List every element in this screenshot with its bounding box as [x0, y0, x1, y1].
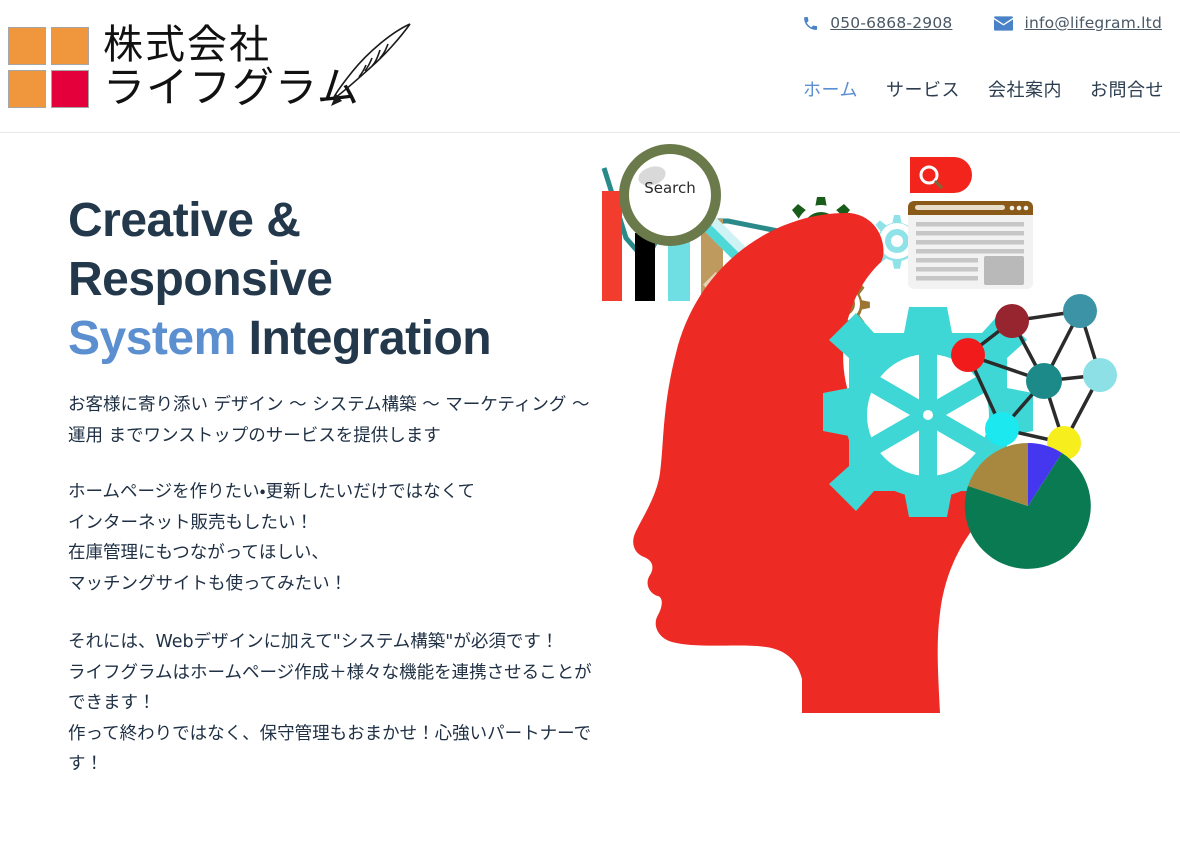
hero-p3-line-1: それには、Webデザインに加えて"システム構築"が必須です！	[68, 632, 558, 652]
hero-p2-line-4: マッチングサイトも使ってみたい！	[68, 574, 347, 594]
node-red	[951, 338, 985, 372]
envelope-icon	[994, 16, 1013, 31]
node-cyan	[985, 412, 1019, 446]
email-contact[interactable]: info@lifegram.ltd	[994, 14, 1162, 32]
node-light-cyan	[1083, 358, 1117, 392]
hero-title-highlight: System	[68, 312, 236, 365]
nav-item-company[interactable]: 会社案内	[988, 76, 1062, 102]
hero-title-line2: Responsive	[68, 253, 332, 306]
search-tag-icon	[910, 157, 972, 193]
email-address: info@lifegram.ltd	[1024, 14, 1162, 32]
site-header: 株式会社 ライフグラム 050-6868-2908	[0, 0, 1180, 133]
hero-copy: Creative & Responsive System Integration…	[68, 191, 598, 780]
phone-icon	[802, 15, 819, 32]
nav-item-contact[interactable]: お問合せ	[1090, 76, 1164, 102]
hero-section: Creative & Responsive System Integration…	[0, 133, 1180, 846]
phone-contact[interactable]: 050-6868-2908	[802, 14, 952, 32]
site-logo[interactable]: 株式会社 ライフグラム	[8, 24, 360, 110]
nav-item-services[interactable]: サービス	[886, 76, 960, 102]
hero-p3-line-2: ライフグラムはホームページ作成＋様々な機能を連携させることができます！	[68, 663, 592, 714]
node-steel-blue	[1063, 294, 1097, 328]
hero-title-line1: Creative &	[68, 194, 300, 247]
hero-p3-line-3: 作って終わりではなく、保守管理もおまかせ！心強いパートナーです！	[68, 724, 591, 775]
node-dark-red	[995, 304, 1029, 338]
hero-p2-line-3: 在庫管理にもつながってほしい、	[68, 543, 329, 563]
logo-square-2	[51, 27, 89, 65]
main-navigation: ホーム サービス 会社案内 お問合せ	[803, 76, 1164, 102]
hero-paragraph-2: ホームページを作りたい・更新したいだけではなくて インターネット販売もしたい！ …	[68, 477, 598, 599]
hero-paragraph-3: それには、Webデザインに加えて"システム構築"が必須です！ ライフグラムはホー…	[68, 627, 598, 780]
hero-title-line3-rest: Integration	[236, 312, 491, 365]
phone-number: 050-6868-2908	[830, 14, 952, 32]
header-contact-info: 050-6868-2908 info@lifegram.ltd	[802, 14, 1162, 32]
hero-paragraph-1: お客様に寄り添い デザイン 〜 システム構築 〜 マーケティング 〜 運用 まで…	[68, 390, 598, 451]
logo-square-1	[8, 27, 46, 65]
nav-item-home[interactable]: ホーム	[803, 76, 858, 102]
hero-illustration: Search	[588, 143, 1148, 833]
pie-chart-graphic	[965, 443, 1091, 569]
magnifier-search-label: Search	[644, 179, 696, 197]
hero-p2-line-2: インターネット販売もしたい！	[68, 513, 313, 533]
logo-square-3	[8, 70, 46, 108]
hero-title: Creative & Responsive System Integration	[68, 191, 598, 368]
logo-mark	[8, 27, 89, 108]
browser-window-mockup	[908, 201, 1033, 289]
hero-p2-line-1: ホームページを作りたい・更新したいだけではなくて	[68, 482, 475, 502]
quill-pen-icon	[322, 18, 418, 115]
node-teal	[1026, 363, 1062, 399]
logo-square-4	[51, 70, 89, 108]
